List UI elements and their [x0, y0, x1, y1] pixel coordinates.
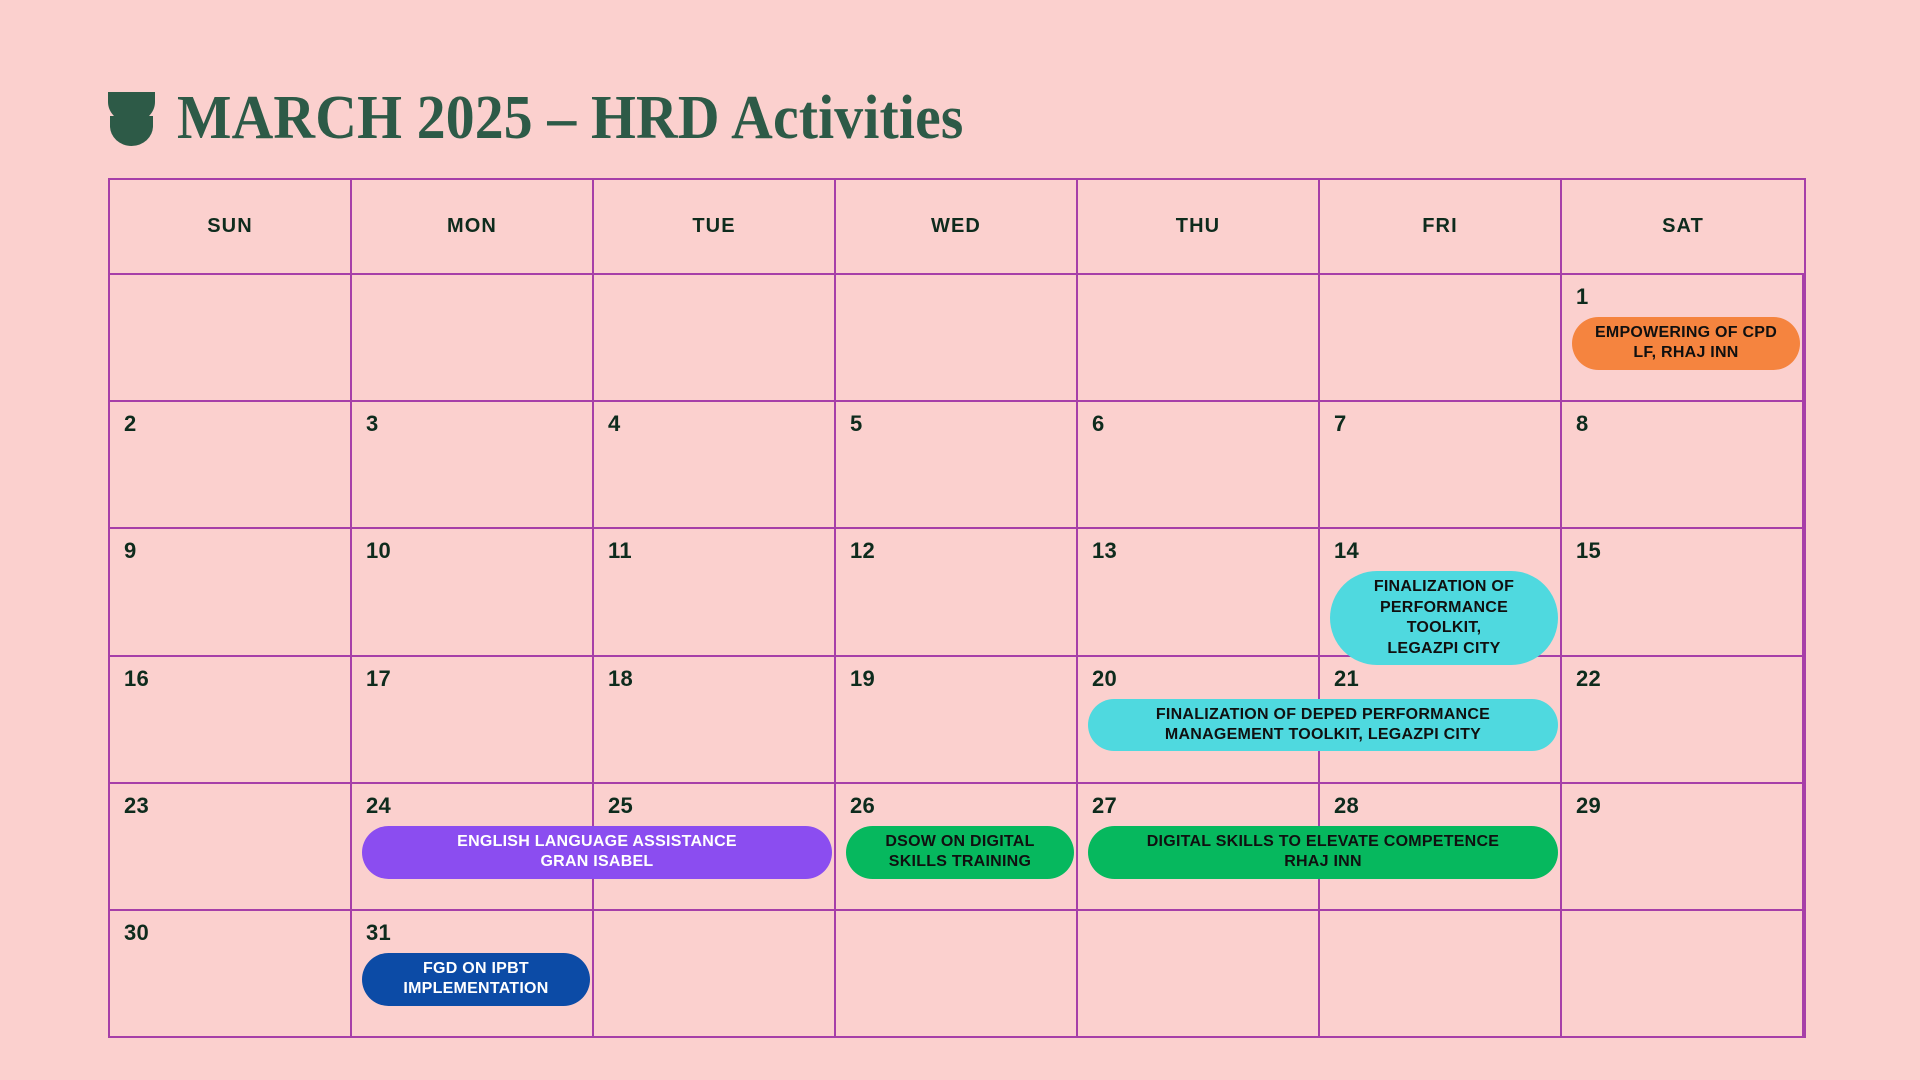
- day-cell-empty[interactable]: [836, 911, 1078, 1036]
- day-cell-9[interactable]: 9: [110, 529, 352, 654]
- day-number: 19: [850, 668, 1076, 690]
- day-number: 6: [1092, 413, 1318, 435]
- day-number: 17: [366, 668, 592, 690]
- day-cell-empty[interactable]: [594, 911, 836, 1036]
- day-cell-empty[interactable]: [110, 275, 352, 400]
- day-cell-3[interactable]: 3: [352, 402, 594, 527]
- day-cell-empty[interactable]: [594, 275, 836, 400]
- day-number: 18: [608, 668, 834, 690]
- calendar-week-row: 23242526272829ENGLISH LANGUAGE ASSISTANC…: [110, 784, 1804, 911]
- day-number: 29: [1576, 795, 1802, 817]
- day-cell-empty[interactable]: [1320, 275, 1562, 400]
- day-number: 28: [1334, 795, 1560, 817]
- day-number: 20: [1092, 668, 1318, 690]
- day-number: 4: [608, 413, 834, 435]
- day-cell-16[interactable]: 16: [110, 657, 352, 782]
- calendar-week-row: 1EMPOWERING OF CPD LF, RHAJ INN: [110, 275, 1804, 402]
- event-pill[interactable]: ENGLISH LANGUAGE ASSISTANCE GRAN ISABEL: [362, 826, 832, 879]
- day-number: 1: [1576, 286, 1802, 308]
- day-cell-18[interactable]: 18: [594, 657, 836, 782]
- event-pill[interactable]: DSOW ON DIGITAL SKILLS TRAINING: [846, 826, 1074, 879]
- weekday-header-sun: SUN: [110, 180, 352, 273]
- day-number: 3: [366, 413, 592, 435]
- day-cell-19[interactable]: 19: [836, 657, 1078, 782]
- day-number: 9: [124, 540, 350, 562]
- page-header: MARCH 2025 – HRD Activities: [108, 82, 1023, 154]
- weekday-header-fri: FRI: [1320, 180, 1562, 273]
- day-cell-empty[interactable]: [1078, 911, 1320, 1036]
- day-number: 22: [1576, 668, 1802, 690]
- weekday-header-mon: MON: [352, 180, 594, 273]
- day-cell-15[interactable]: 15: [1562, 529, 1804, 654]
- calendar-week-row: 2345678: [110, 402, 1804, 529]
- day-number: 21: [1334, 668, 1560, 690]
- day-cell-30[interactable]: 30: [110, 911, 352, 1036]
- day-number: 24: [366, 795, 592, 817]
- day-cell-6[interactable]: 6: [1078, 402, 1320, 527]
- day-number: 30: [124, 922, 350, 944]
- weekday-header-tue: TUE: [594, 180, 836, 273]
- day-number: 7: [1334, 413, 1560, 435]
- day-cell-empty[interactable]: [1562, 911, 1804, 1036]
- day-cell-5[interactable]: 5: [836, 402, 1078, 527]
- day-number: 2: [124, 413, 350, 435]
- page-title: MARCH 2025 – HRD Activities: [177, 87, 964, 149]
- day-number: 15: [1576, 540, 1802, 562]
- day-cell-17[interactable]: 17: [352, 657, 594, 782]
- day-number: 26: [850, 795, 1076, 817]
- double-arc-logo-icon: [108, 90, 155, 146]
- day-number: 13: [1092, 540, 1318, 562]
- weekday-header-sat: SAT: [1562, 180, 1804, 273]
- day-cell-11[interactable]: 11: [594, 529, 836, 654]
- calendar-week-row: 3031FGD ON IPBT IMPLEMENTATION: [110, 911, 1804, 1036]
- event-pill[interactable]: FINALIZATION OF PERFORMANCE TOOLKIT, LEG…: [1330, 571, 1558, 665]
- day-number: 25: [608, 795, 834, 817]
- day-cell-29[interactable]: 29: [1562, 784, 1804, 909]
- day-cell-empty[interactable]: [1078, 275, 1320, 400]
- weekday-header-row: SUNMONTUEWEDTHUFRISAT: [110, 180, 1804, 275]
- day-cell-empty[interactable]: [1320, 911, 1562, 1036]
- day-number: 10: [366, 540, 592, 562]
- event-pill[interactable]: FINALIZATION OF DEPED PERFORMANCE MANAGE…: [1088, 699, 1558, 752]
- day-number: 8: [1576, 413, 1802, 435]
- day-number: 12: [850, 540, 1076, 562]
- weekday-header-thu: THU: [1078, 180, 1320, 273]
- day-cell-10[interactable]: 10: [352, 529, 594, 654]
- day-number: 23: [124, 795, 350, 817]
- day-cell-13[interactable]: 13: [1078, 529, 1320, 654]
- day-number: 14: [1334, 540, 1560, 562]
- day-number: 31: [366, 922, 592, 944]
- event-pill[interactable]: EMPOWERING OF CPD LF, RHAJ INN: [1572, 317, 1800, 370]
- weekday-header-wed: WED: [836, 180, 1078, 273]
- day-cell-8[interactable]: 8: [1562, 402, 1804, 527]
- day-cell-7[interactable]: 7: [1320, 402, 1562, 527]
- day-cell-4[interactable]: 4: [594, 402, 836, 527]
- day-cell-23[interactable]: 23: [110, 784, 352, 909]
- day-cell-2[interactable]: 2: [110, 402, 352, 527]
- day-cell-empty[interactable]: [836, 275, 1078, 400]
- day-number: 5: [850, 413, 1076, 435]
- calendar-grid: SUNMONTUEWEDTHUFRISAT 1EMPOWERING OF CPD…: [108, 178, 1806, 1038]
- event-pill[interactable]: FGD ON IPBT IMPLEMENTATION: [362, 953, 590, 1006]
- day-cell-22[interactable]: 22: [1562, 657, 1804, 782]
- day-number: 27: [1092, 795, 1318, 817]
- calendar-week-row: 9101112131415FINALIZATION OF PERFORMANCE…: [110, 529, 1804, 656]
- day-cell-empty[interactable]: [352, 275, 594, 400]
- day-number: 16: [124, 668, 350, 690]
- event-pill[interactable]: DIGITAL SKILLS TO ELEVATE COMPETENCE RHA…: [1088, 826, 1558, 879]
- day-cell-12[interactable]: 12: [836, 529, 1078, 654]
- calendar-weeks: 1EMPOWERING OF CPD LF, RHAJ INN234567891…: [110, 275, 1804, 1036]
- calendar-week-row: 16171819202122FINALIZATION OF DEPED PERF…: [110, 657, 1804, 784]
- day-number: 11: [608, 540, 834, 562]
